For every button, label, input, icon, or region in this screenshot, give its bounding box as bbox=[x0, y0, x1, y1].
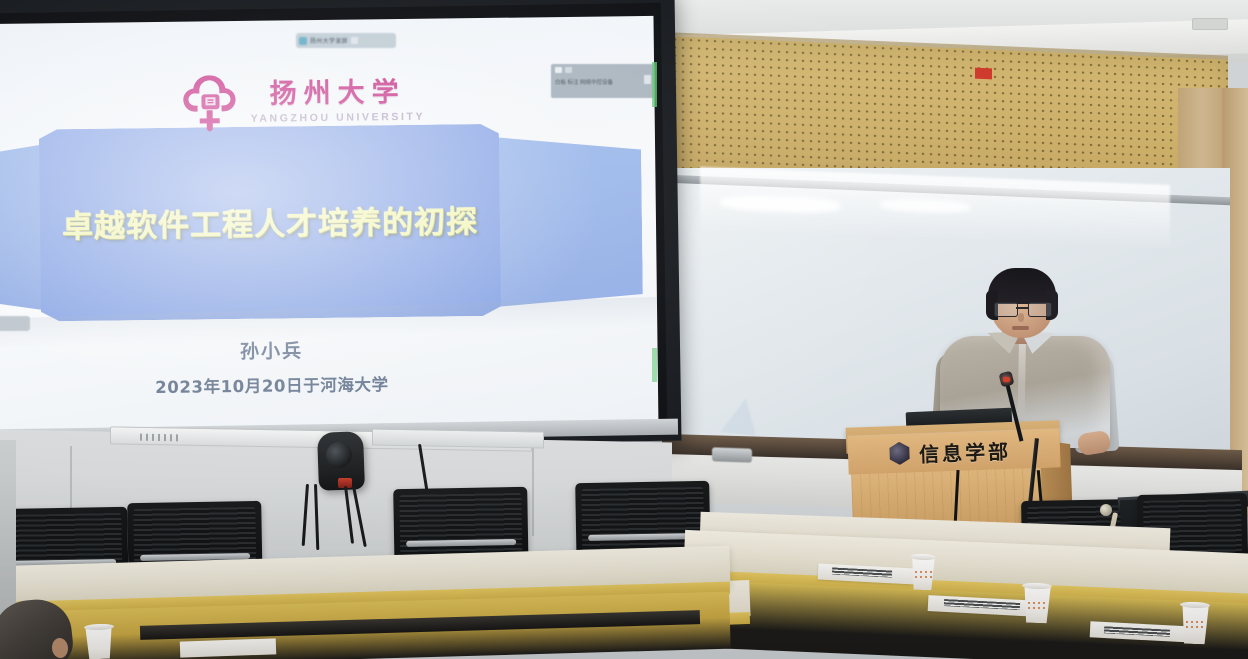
slide-date-venue: 2023年10月20日于河海大学 bbox=[42, 370, 502, 400]
glasses-bridge bbox=[1016, 307, 1028, 309]
paper-cup-pattern bbox=[914, 570, 932, 579]
osd-screen-icon[interactable] bbox=[555, 67, 562, 73]
logo-english-name: YANGZHOU UNIVERSITY bbox=[251, 110, 426, 124]
osd-top-toolbar[interactable]: 扬州大学录屏 bbox=[296, 33, 396, 48]
ceiling-vent bbox=[1192, 18, 1228, 30]
red-sticker bbox=[975, 68, 992, 80]
osd-top-label: 扬州大学录屏 bbox=[310, 36, 348, 45]
osd-icon-row bbox=[555, 67, 651, 73]
yangzhou-university-emblem-icon bbox=[178, 72, 241, 135]
microphone-led bbox=[1003, 377, 1010, 382]
wall-vent-strip-2 bbox=[372, 428, 544, 448]
speaker-mouth bbox=[1012, 326, 1029, 330]
osd-grid-icon[interactable] bbox=[565, 67, 572, 73]
slide-banner-tail-right bbox=[481, 134, 643, 308]
left-edge-wall bbox=[0, 440, 16, 620]
lecture-hall-scene: 扬州大学 YANGZHOU UNIVERSITY 卓越软件工程人才培养的初探 孙… bbox=[0, 0, 1248, 659]
paper-cup-pattern bbox=[1185, 620, 1203, 629]
osd-drag-handle[interactable] bbox=[644, 75, 651, 84]
speaker-nose bbox=[1018, 313, 1024, 322]
slide-university-logo: 扬州大学 YANGZHOU UNIVERSITY bbox=[178, 64, 479, 140]
podium-label: 信息学部 bbox=[888, 433, 1049, 469]
osd-side-toolbar[interactable]: 白板 标注 网络中控设备 bbox=[551, 64, 655, 98]
paper-stack bbox=[180, 638, 276, 657]
screen-status-led-right bbox=[652, 62, 657, 107]
glasses-lens-right bbox=[1028, 302, 1052, 317]
camera-lens-icon bbox=[326, 442, 352, 468]
wall-seam-right bbox=[532, 444, 534, 536]
av-arm-knob bbox=[1100, 504, 1112, 516]
screen-status-led-right-lower bbox=[652, 348, 657, 382]
wall-vent-grille bbox=[140, 434, 178, 442]
screen-left-overlay-tag bbox=[0, 316, 30, 331]
paper-cup-pattern bbox=[1027, 601, 1045, 610]
logo-chinese-name: 扬州大学 bbox=[269, 79, 405, 109]
slide-author: 孙小兵 bbox=[41, 334, 501, 367]
slide-title: 卓越软件工程人才培养的初探 bbox=[40, 196, 501, 247]
pen-icon[interactable] bbox=[351, 37, 358, 44]
glasses-lens-left bbox=[994, 302, 1018, 317]
osd-app-icon bbox=[299, 37, 307, 45]
faculty-crest-icon bbox=[888, 441, 912, 465]
podium-text: 信息学部 bbox=[919, 435, 1012, 467]
osd-right-label: 白板 标注 网络中控设备 bbox=[555, 78, 651, 86]
whiteboard-reflection-triangle bbox=[720, 396, 760, 436]
ledge-object bbox=[712, 447, 752, 462]
